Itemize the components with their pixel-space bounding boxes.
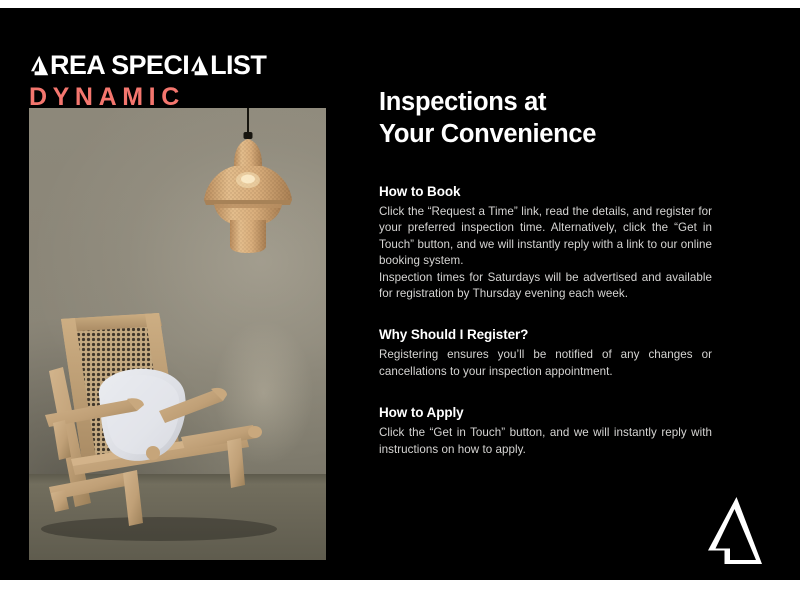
- stylised-a-icon: [29, 55, 49, 76]
- section-body-how-to-book: Click the “Request a Time” link, read th…: [379, 204, 712, 270]
- section-body-why-register: Registering ensures you’ll be notified o…: [379, 347, 712, 380]
- logo-word-specialist-tail: LIST: [210, 50, 266, 80]
- brand-logo: REA SPECI LIST DYNAMIC: [29, 50, 349, 111]
- logo-word-area: REA SPECI: [50, 50, 189, 80]
- section-body-how-to-apply: Click the “Get in Touch” button, and we …: [379, 425, 712, 458]
- stylised-a-icon-2: [189, 55, 209, 76]
- section-how-to-apply: How to Apply Click the “Get in Touch” bu…: [379, 403, 712, 458]
- logo-primary-line: REA SPECI LIST: [29, 50, 349, 80]
- hero-photo: [29, 108, 326, 560]
- section-title-how-to-apply: How to Apply: [379, 403, 712, 422]
- slide-canvas: REA SPECI LIST DYNAMIC: [0, 0, 800, 600]
- wooden-lounge-chair: [31, 307, 301, 542]
- rattan-pendant-lamp: [194, 108, 304, 253]
- headline-line-2: Your Convenience: [379, 118, 712, 150]
- content-column: Inspections at Your Convenience How to B…: [379, 86, 712, 458]
- page-title: Inspections at Your Convenience: [379, 86, 712, 150]
- slide-background: REA SPECI LIST DYNAMIC: [0, 8, 800, 580]
- area-specialist-a-mark-icon: [703, 495, 765, 567]
- headline-line-1: Inspections at: [379, 88, 546, 116]
- section-body-how-to-book-2: Inspection times for Saturdays will be a…: [379, 270, 712, 303]
- section-how-to-book: How to Book Click the “Request a Time” l…: [379, 182, 712, 302]
- section-title-why-register: Why Should I Register?: [379, 325, 712, 344]
- section-title-how-to-book: How to Book: [379, 182, 712, 201]
- logo-secondary-line: DYNAMIC: [29, 83, 349, 111]
- section-why-register: Why Should I Register? Registering ensur…: [379, 325, 712, 380]
